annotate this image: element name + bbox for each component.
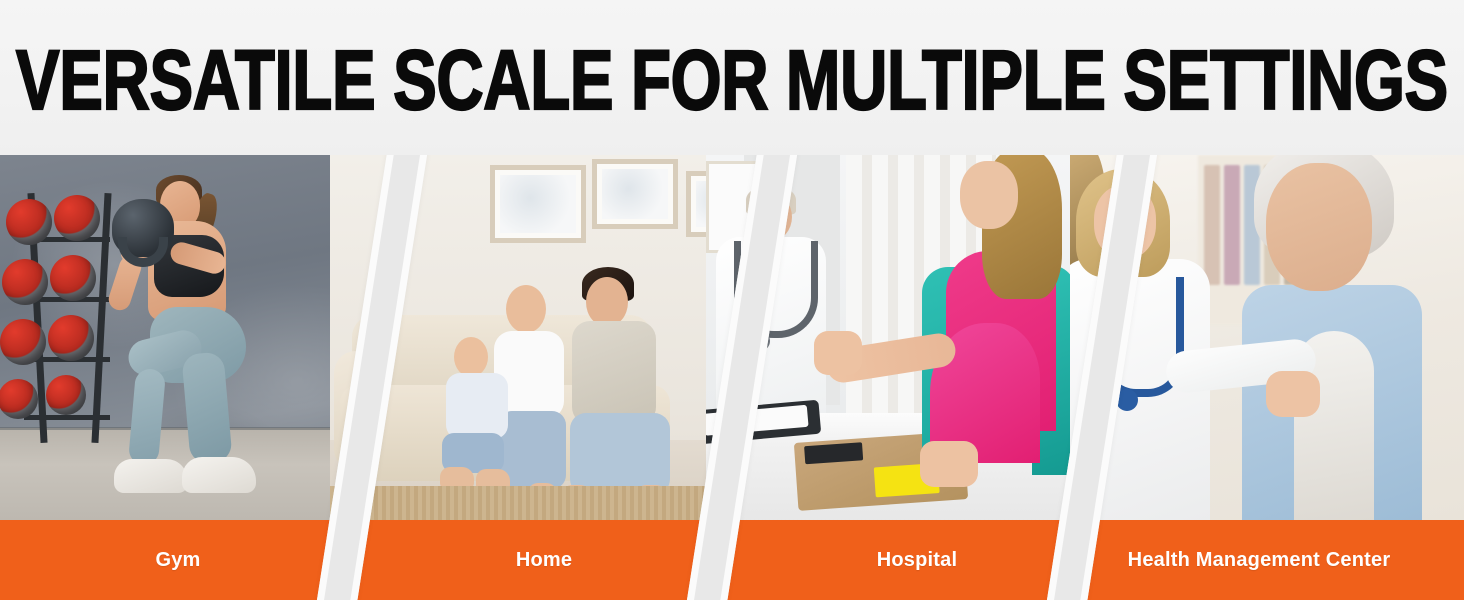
wall-frame-icon (490, 165, 586, 243)
banner-header: VERSATILE SCALE FOR MULTIPLE SETTINGS (0, 0, 1464, 155)
gym-person (108, 177, 308, 520)
panel-label-hospital: Hospital (877, 549, 958, 572)
panel-strip: Gym (0, 155, 1464, 600)
wall-frame-icon (592, 159, 678, 229)
panel-label-health-management-center: Health Management Center (1128, 549, 1391, 572)
promo-banner: VERSATILE SCALE FOR MULTIPLE SETTINGS (0, 0, 1464, 600)
caption-bar-health-management-center: Health Management Center (1070, 520, 1464, 600)
page-title: VERSATILE SCALE FOR MULTIPLE SETTINGS (16, 38, 1448, 122)
panel-label-gym: Gym (155, 549, 200, 572)
panel-label-home: Home (516, 549, 572, 572)
